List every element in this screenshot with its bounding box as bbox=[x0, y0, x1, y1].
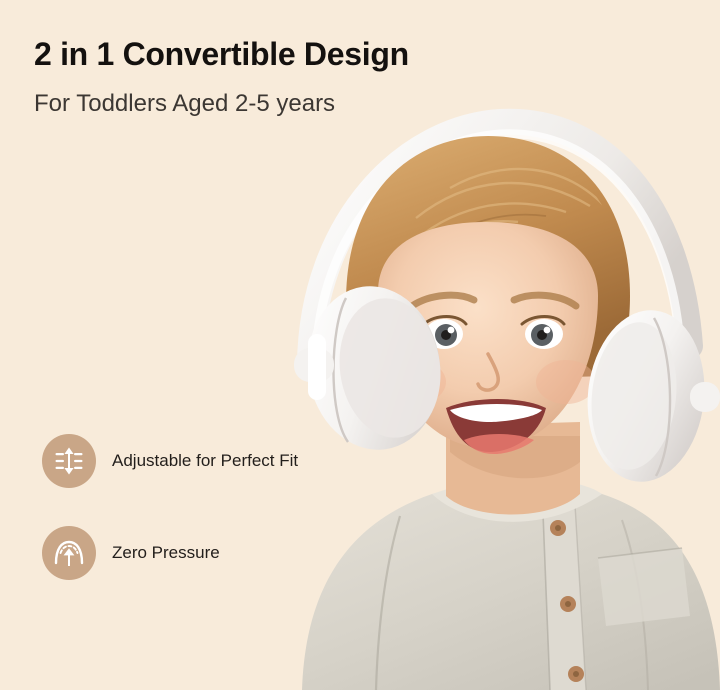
shirt-buttons bbox=[550, 520, 584, 682]
product-poster: 2 in 1 Convertible Design For Toddlers A… bbox=[0, 0, 720, 690]
photo-earcup-left bbox=[294, 278, 451, 459]
feature-list: Adjustable for Perfect Fit Zero Pressure bbox=[42, 434, 298, 580]
feature-label: Zero Pressure bbox=[112, 543, 220, 563]
feature-adjustable: Adjustable for Perfect Fit bbox=[42, 434, 298, 488]
photo-headband bbox=[310, 122, 690, 364]
product-photo bbox=[250, 96, 720, 690]
page-subtitle: For Toddlers Aged 2-5 years bbox=[34, 90, 335, 118]
photo-eyes bbox=[424, 317, 564, 350]
feature-label: Adjustable for Perfect Fit bbox=[112, 451, 298, 471]
page-title: 2 in 1 Convertible Design bbox=[34, 36, 409, 73]
adjustable-slider-icon bbox=[42, 434, 96, 488]
photo-head bbox=[346, 136, 630, 454]
photo-earcup-right bbox=[579, 304, 720, 487]
photo-neck bbox=[446, 422, 580, 515]
feature-zero-pressure: Zero Pressure bbox=[42, 526, 298, 580]
photo-shirt bbox=[302, 478, 720, 690]
photo-mouth bbox=[446, 399, 546, 454]
headband-arch-up-arrow-icon bbox=[42, 526, 96, 580]
